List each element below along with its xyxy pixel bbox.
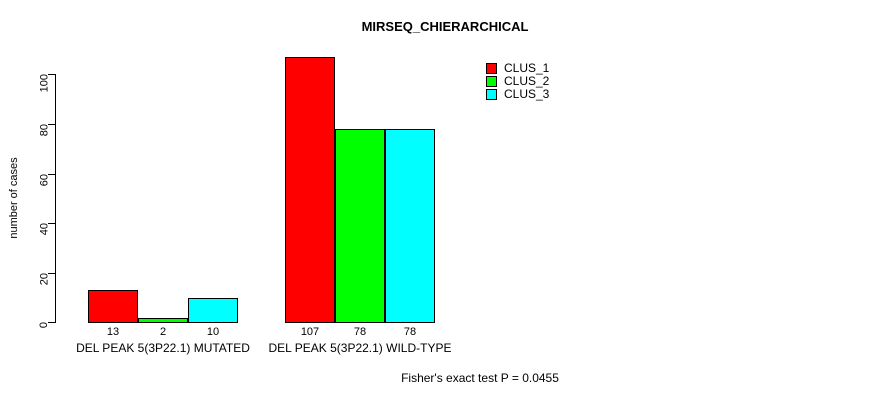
- bar-value-clus3-wildtype: 78: [385, 325, 435, 339]
- bar-value-clus2-mutated: 2: [138, 325, 188, 339]
- bar-clus2-wildtype[interactable]: [335, 129, 385, 323]
- legend-swatch-icon: [486, 63, 497, 74]
- bar-clus1-mutated[interactable]: [88, 290, 138, 323]
- legend-swatch-icon: [486, 76, 497, 87]
- bar-value-clus3-mutated: 10: [188, 325, 238, 339]
- plot-area: 0 20 40 60 80 100 number of cases: [0, 0, 890, 400]
- bar-clus3-mutated[interactable]: [188, 298, 238, 323]
- bar-chart-figure: MIRSEQ_CHIERARCHICAL 0 20 40 60: [0, 0, 890, 400]
- bar-clus1-wildtype[interactable]: [285, 57, 335, 323]
- fishers-test-text: Fisher's exact test P = 0.0455: [401, 371, 559, 385]
- group-label-wildtype: DEL PEAK 5(3P22.1) WILD-TYPE: [235, 340, 485, 356]
- bar-value-clus2-wildtype: 78: [335, 325, 385, 339]
- bar-value-clus1-mutated: 13: [88, 325, 138, 339]
- bar-clus3-wildtype[interactable]: [385, 129, 435, 323]
- y-axis-line: [55, 74, 56, 323]
- legend-label-clus3: CLUS_3: [504, 87, 549, 102]
- bar-clus2-mutated[interactable]: [138, 318, 188, 323]
- legend-swatch-icon: [486, 89, 497, 100]
- statistical-annotation: Fisher's exact test P = 0.0455: [0, 371, 890, 385]
- bar-value-clus1-wildtype: 107: [285, 325, 335, 339]
